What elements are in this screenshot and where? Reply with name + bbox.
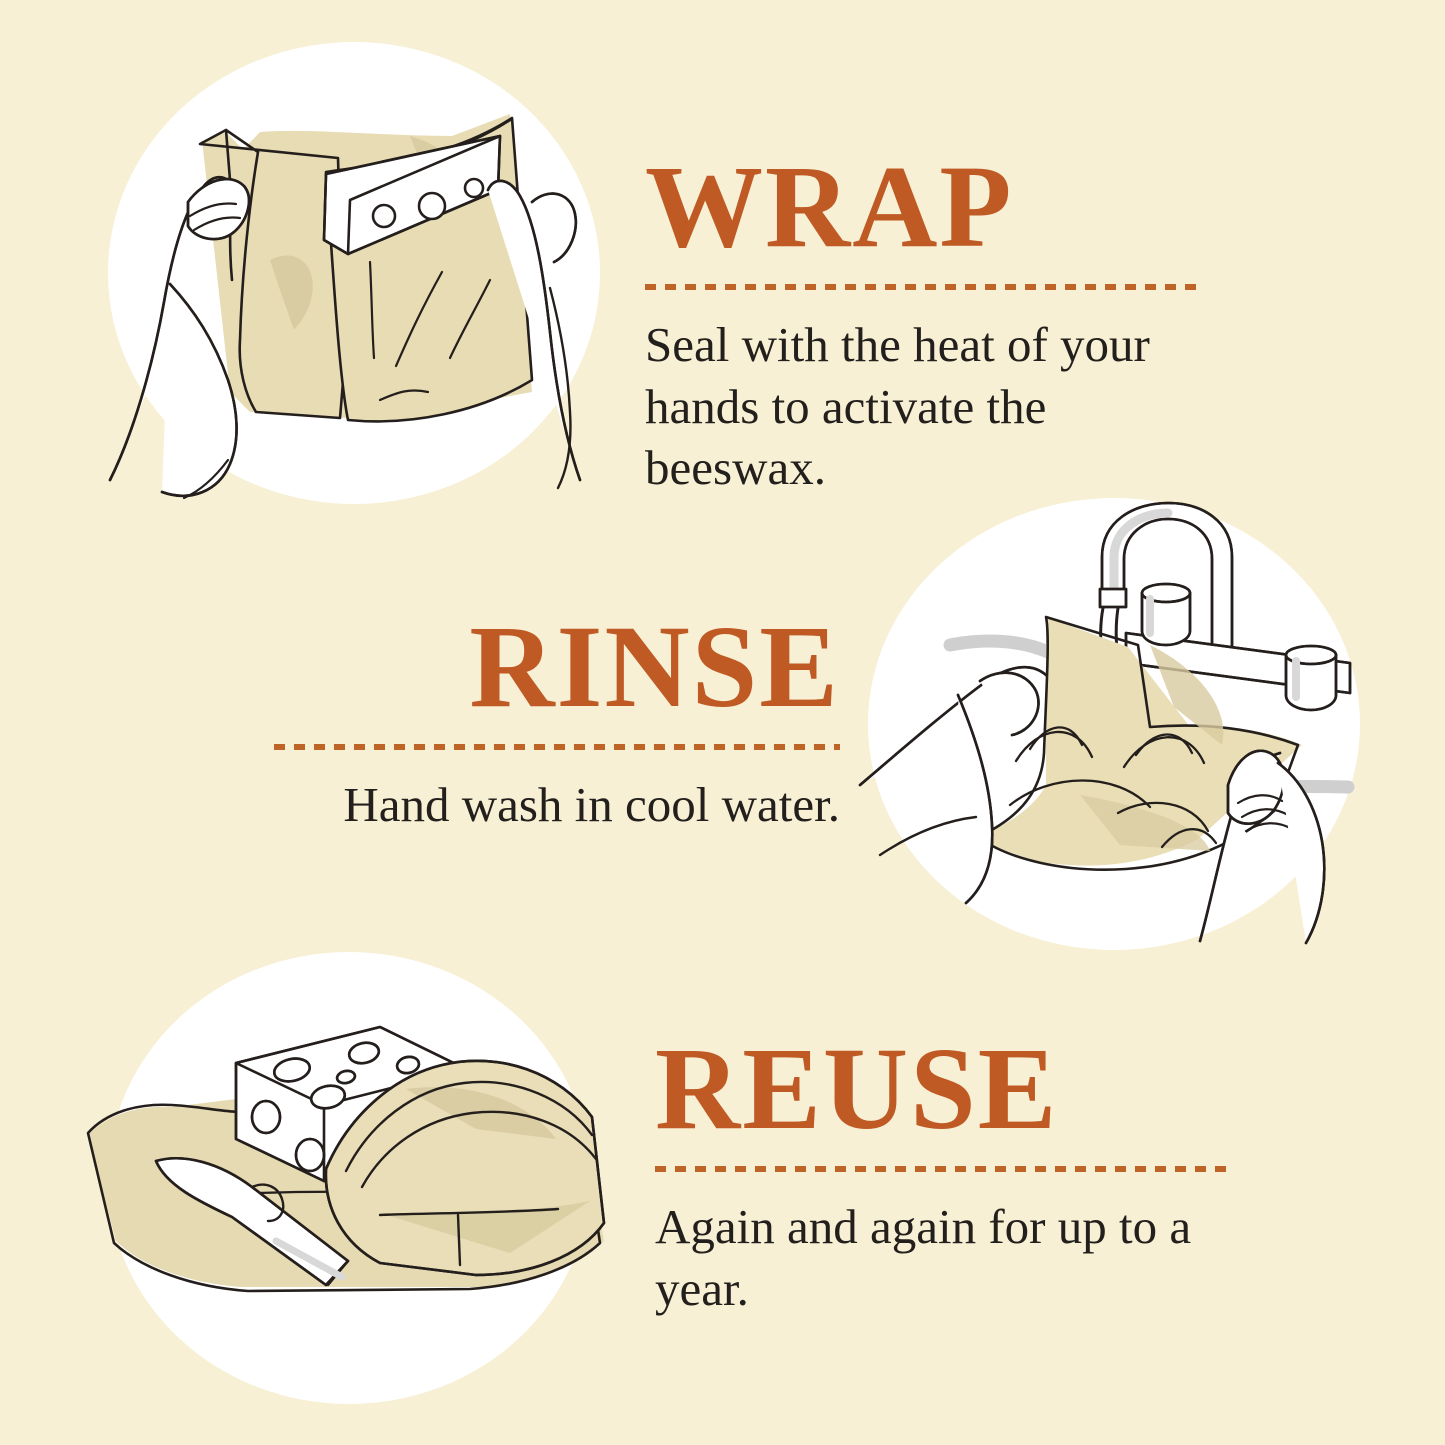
step-block-rinse: RINSE Hand wash in cool water. xyxy=(248,608,840,836)
hands-rinsing-wrap-under-faucet-illustration xyxy=(850,495,1370,945)
infographic-canvas: WRAP Seal with the heat of your hands to… xyxy=(0,0,1445,1445)
step-block-wrap: WRAP Seal with the heat of your hands to… xyxy=(645,148,1245,499)
dashed-divider-reuse xyxy=(655,1166,1231,1172)
step-description-wrap: Seal with the heat of your hands to acti… xyxy=(645,314,1237,499)
dashed-divider-rinse xyxy=(274,744,840,750)
hands-wrapping-cheese-illustration xyxy=(80,40,620,520)
step-description-reuse: Again and again for up to a year. xyxy=(655,1196,1253,1319)
step-description-rinse: Hand wash in cool water. xyxy=(274,774,840,836)
wrapped-cheese-block-with-knife-illustration xyxy=(80,965,640,1405)
step-title-rinse: RINSE xyxy=(248,608,840,726)
dashed-divider-wrap xyxy=(645,284,1205,290)
step-block-reuse: REUSE Again and again for up to a year. xyxy=(655,1030,1255,1319)
step-title-wrap: WRAP xyxy=(645,148,1245,266)
step-title-reuse: REUSE xyxy=(655,1030,1255,1148)
